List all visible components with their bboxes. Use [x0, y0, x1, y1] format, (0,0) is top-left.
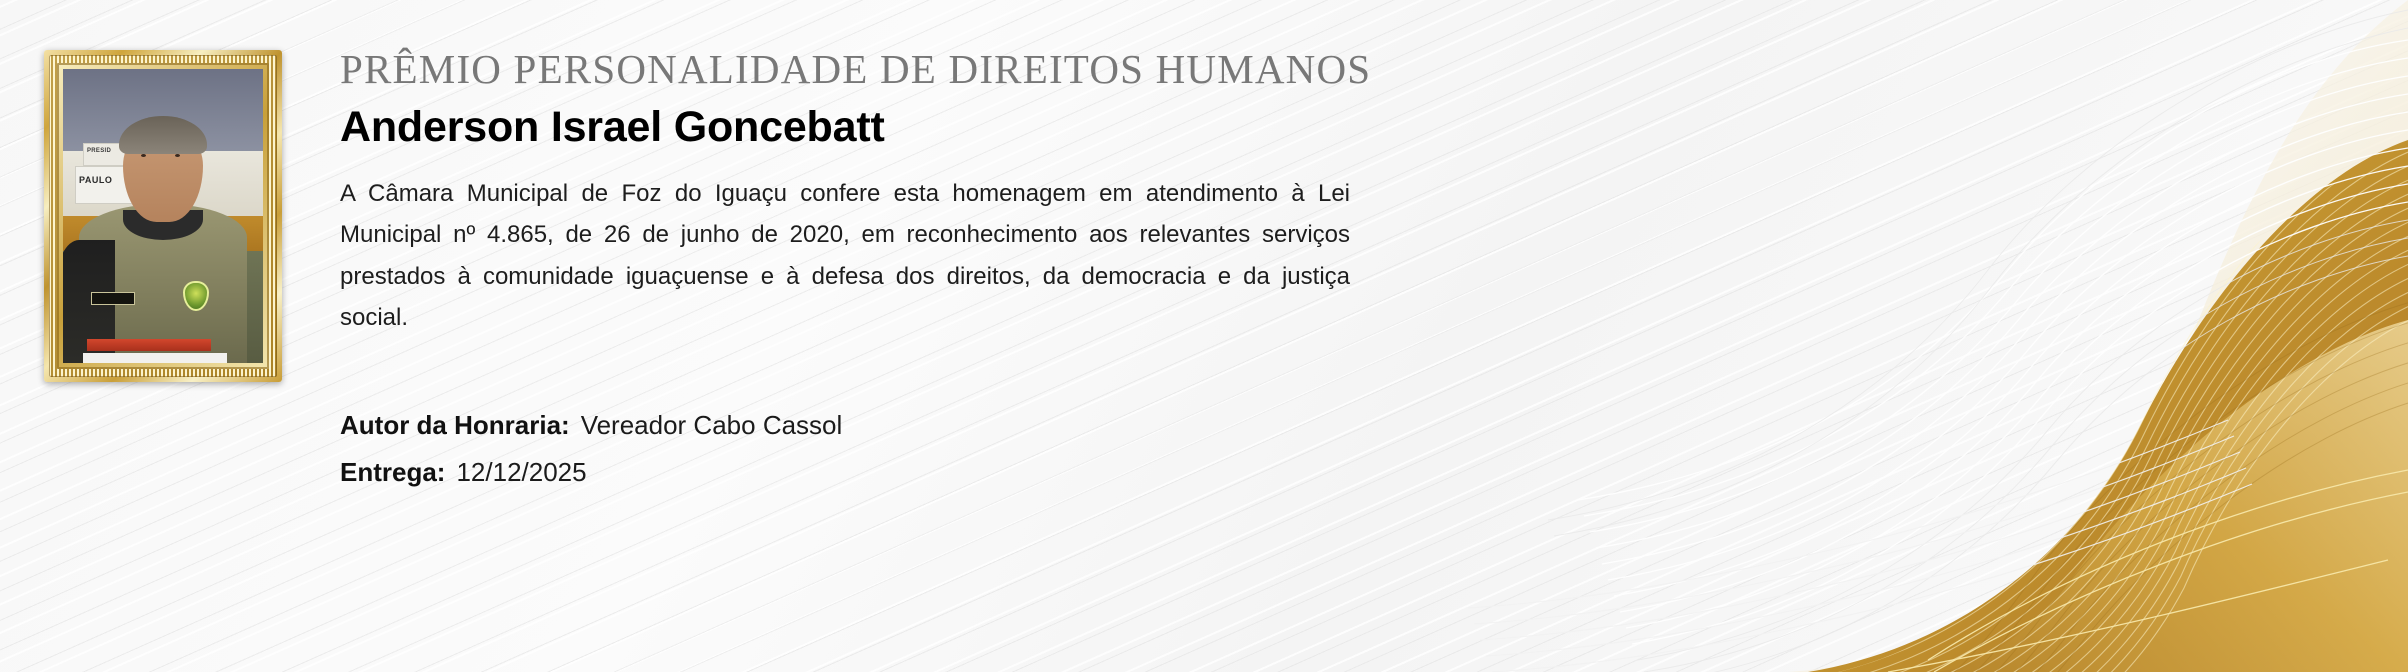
- portrait-photo: PRESID PAULO: [63, 69, 263, 363]
- author-label: Autor da Honraria:: [340, 408, 570, 443]
- award-citation-text: A Câmara Municipal de Foz do Iguaçu conf…: [340, 173, 1350, 379]
- decorative-gold-wave-graphic: [1408, 0, 2408, 672]
- photo-white-papers: [83, 353, 227, 363]
- delivery-row: Entrega: 12/12/2025: [340, 455, 1360, 490]
- award-text-column: PRÊMIO PERSONALIDADE DE DIREITOS HUMANOS…: [340, 0, 1360, 502]
- award-banner: PRESID PAULO PRÊMIO PERSONALIDADE DE DIR…: [0, 0, 2408, 672]
- author-value: Vereador Cabo Cassol: [581, 408, 843, 443]
- photo-uniform-name-tag: [91, 292, 135, 305]
- photo-nameplate-primary-text: PAULO: [79, 175, 112, 185]
- author-row: Autor da Honraria: Vereador Cabo Cassol: [340, 408, 1360, 443]
- honoree-name: Anderson Israel Goncebatt: [340, 103, 1360, 151]
- honoree-portrait: PRESID PAULO: [44, 50, 282, 382]
- photo-red-folder: [87, 339, 211, 351]
- award-meta-block: Autor da Honraria: Vereador Cabo Cassol …: [340, 408, 1360, 490]
- photo-nameplate-secondary-text: PRESID: [87, 148, 111, 154]
- award-title: PRÊMIO PERSONALIDADE DE DIREITOS HUMANOS: [340, 48, 1360, 91]
- delivery-value: 12/12/2025: [456, 455, 586, 490]
- delivery-label: Entrega:: [340, 455, 445, 490]
